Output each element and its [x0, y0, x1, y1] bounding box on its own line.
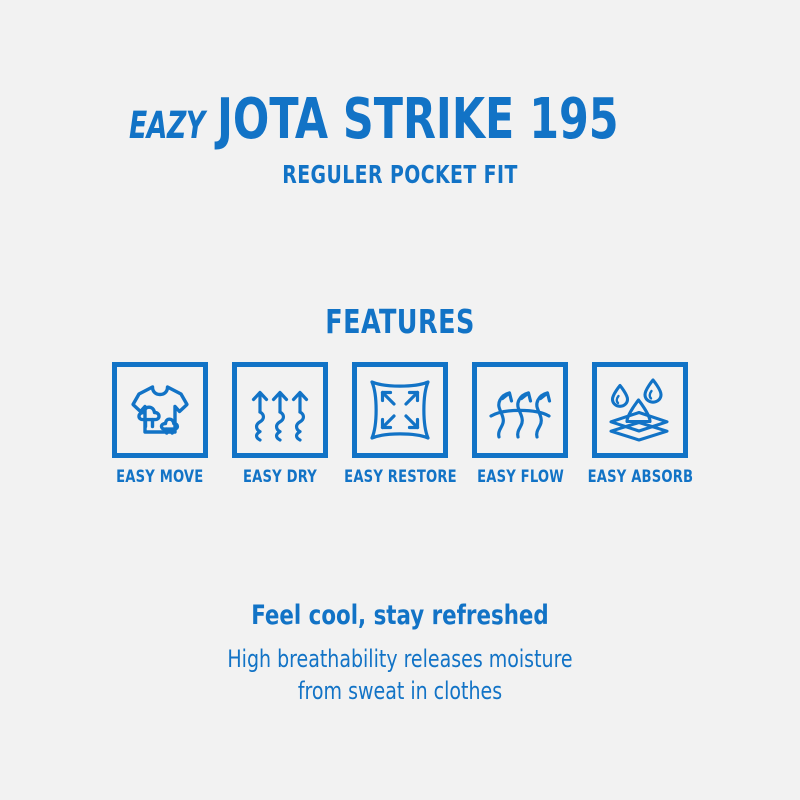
feature-item-easy-flow: EASY FLOW	[470, 362, 570, 487]
poster-header: EAZY JOTA STRIKE 195 REGULER POCKET FIT	[0, 92, 800, 189]
feature-label-easy-restore: EASY RESTORE	[344, 467, 457, 487]
feature-icon-box	[592, 362, 688, 458]
product-feature-poster: EAZY JOTA STRIKE 195 REGULER POCKET FIT …	[0, 0, 800, 800]
feature-item-easy-restore: EASY RESTORE	[350, 362, 450, 487]
tagline: Feel cool, stay refreshed	[48, 600, 752, 631]
body-copy-line-2: from sweat in clothes	[48, 676, 752, 708]
body-copy: High breathability releases moisture fro…	[48, 644, 752, 708]
footer-copy-block: Feel cool, stay refreshed High breathabi…	[0, 600, 800, 708]
page-title: EAZY JOTA STRIKE 195	[0, 92, 800, 148]
product-subtitle: REGULER POCKET FIT	[64, 160, 736, 189]
feature-icon-box	[232, 362, 328, 458]
feature-label-easy-move: EASY MOVE	[116, 467, 203, 487]
product-name: JOTA STRIKE 195	[217, 92, 619, 148]
fabric-four-arrows-icon	[363, 373, 437, 447]
feature-label-easy-absorb: EASY ABSORB	[587, 467, 693, 487]
feature-item-easy-dry: EASY DRY	[230, 362, 330, 487]
feature-label-easy-dry: EASY DRY	[243, 467, 317, 487]
feature-label-easy-flow: EASY FLOW	[477, 467, 564, 487]
brand-prefix: EAZY	[129, 107, 205, 144]
feature-icon-box	[112, 362, 208, 458]
feature-item-easy-move: EASY MOVE	[110, 362, 210, 487]
body-copy-line-1: High breathability releases moisture	[48, 644, 752, 676]
water-droplets-layers-icon	[603, 373, 677, 447]
feature-item-easy-absorb: EASY ABSORB	[590, 362, 690, 487]
up-arrows-wavy-icon	[244, 374, 316, 446]
tshirt-stretch-icon	[124, 374, 196, 446]
feature-icon-box	[472, 362, 568, 458]
features-heading: FEATURES	[56, 302, 744, 341]
features-row: EASY MOVE	[110, 362, 690, 487]
feature-icon-box	[352, 362, 448, 458]
airflow-arrows-icon	[484, 374, 556, 446]
